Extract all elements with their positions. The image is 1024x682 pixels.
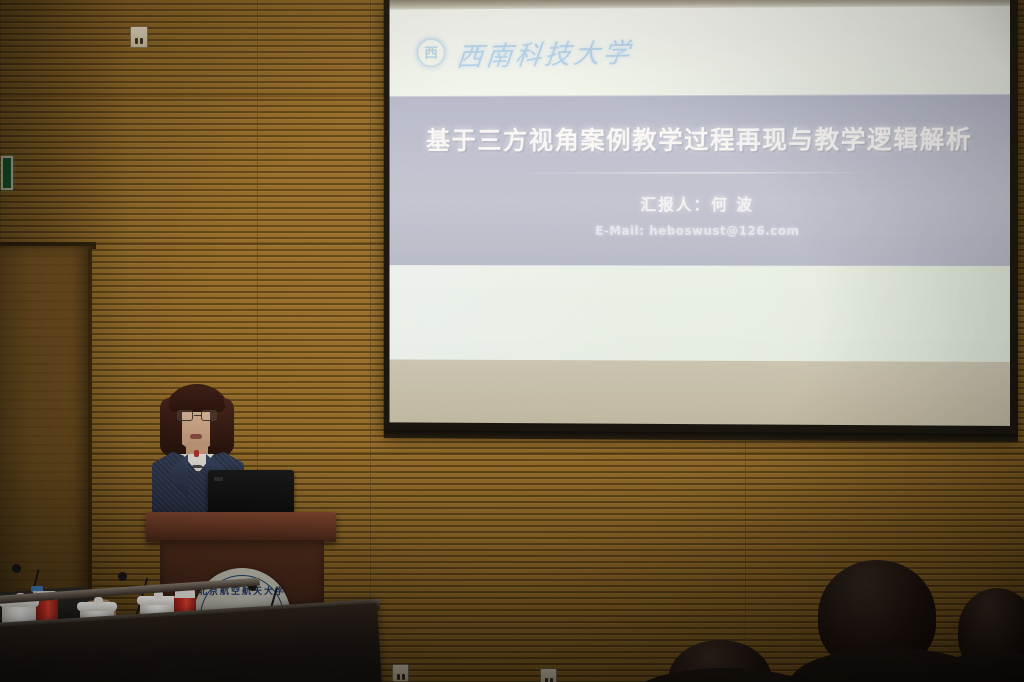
slide-header: 西 西南科技大学 (390, 6, 1011, 96)
slide-title-band: 基于三方视角案例教学过程再现与教学逻辑解析 汇报人：何 波 E-Mail: he… (390, 94, 1011, 266)
projection-screen-frame: 西 西南科技大学 基于三方视角案例教学过程再现与教学逻辑解析 汇报人：何 波 E… (384, 0, 1018, 436)
mug-knob-icon (94, 597, 103, 604)
slide-footer-band (390, 359, 1011, 425)
microphone-head-icon (118, 572, 127, 581)
glasses-icon (176, 410, 218, 421)
slide-divider (515, 172, 880, 173)
lecture-hall-photo: 西 西南科技大学 基于三方视角案例教学过程再现与教学逻辑解析 汇报人：何 波 E… (0, 0, 1024, 682)
university-name-logo: 西南科技大学 (455, 31, 635, 74)
projected-slide: 西 西南科技大学 基于三方视角案例教学过程再现与教学逻辑解析 汇报人：何 波 E… (390, 0, 1011, 426)
slide-email: E-Mail: heboswust@126.com (390, 224, 1011, 238)
slide-title: 基于三方视角案例教学过程再现与教学逻辑解析 (390, 120, 1011, 157)
slide-presenter: 汇报人：何 波 (390, 191, 1011, 215)
slide-body-area (390, 265, 1011, 362)
seal-glyph: 西 (424, 43, 438, 63)
presenter-mouth (190, 434, 202, 439)
university-seal-icon: 西 (417, 38, 446, 68)
presenter-bangs (169, 386, 225, 412)
wall-outlet-icon (130, 26, 148, 48)
microphone-head-icon (12, 564, 21, 573)
